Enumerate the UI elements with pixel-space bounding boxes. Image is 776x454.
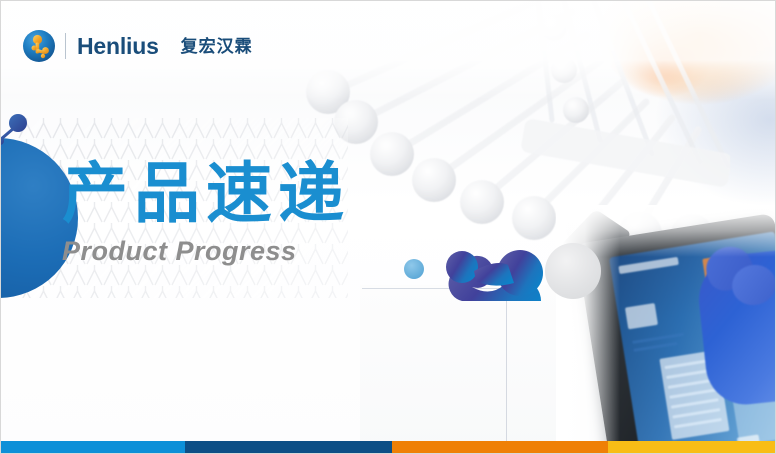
bar-segment-yellow bbox=[608, 441, 776, 454]
lab-bench-edge-line bbox=[506, 290, 507, 450]
bar-segment-light-blue bbox=[0, 441, 185, 454]
molecule-dumbbell-icon bbox=[0, 108, 42, 150]
bar-segment-orange bbox=[392, 441, 608, 454]
brand-name-en: Henlius bbox=[77, 35, 159, 58]
brand-name-cn: 复宏汉霖 bbox=[181, 38, 253, 55]
slide-canvas: Henlius 复宏汉霖 产品速递 Product Progress bbox=[0, 0, 776, 454]
grey-sphere bbox=[545, 243, 601, 299]
henlius-molecule-logo-icon bbox=[22, 29, 56, 63]
bottom-color-bar bbox=[0, 441, 776, 454]
bar-segment-dark-blue bbox=[185, 441, 392, 454]
brand-divider bbox=[65, 33, 66, 59]
brand-lockup[interactable]: Henlius 复宏汉霖 bbox=[22, 28, 253, 64]
page-title-cn: 产品速递 bbox=[62, 160, 482, 226]
